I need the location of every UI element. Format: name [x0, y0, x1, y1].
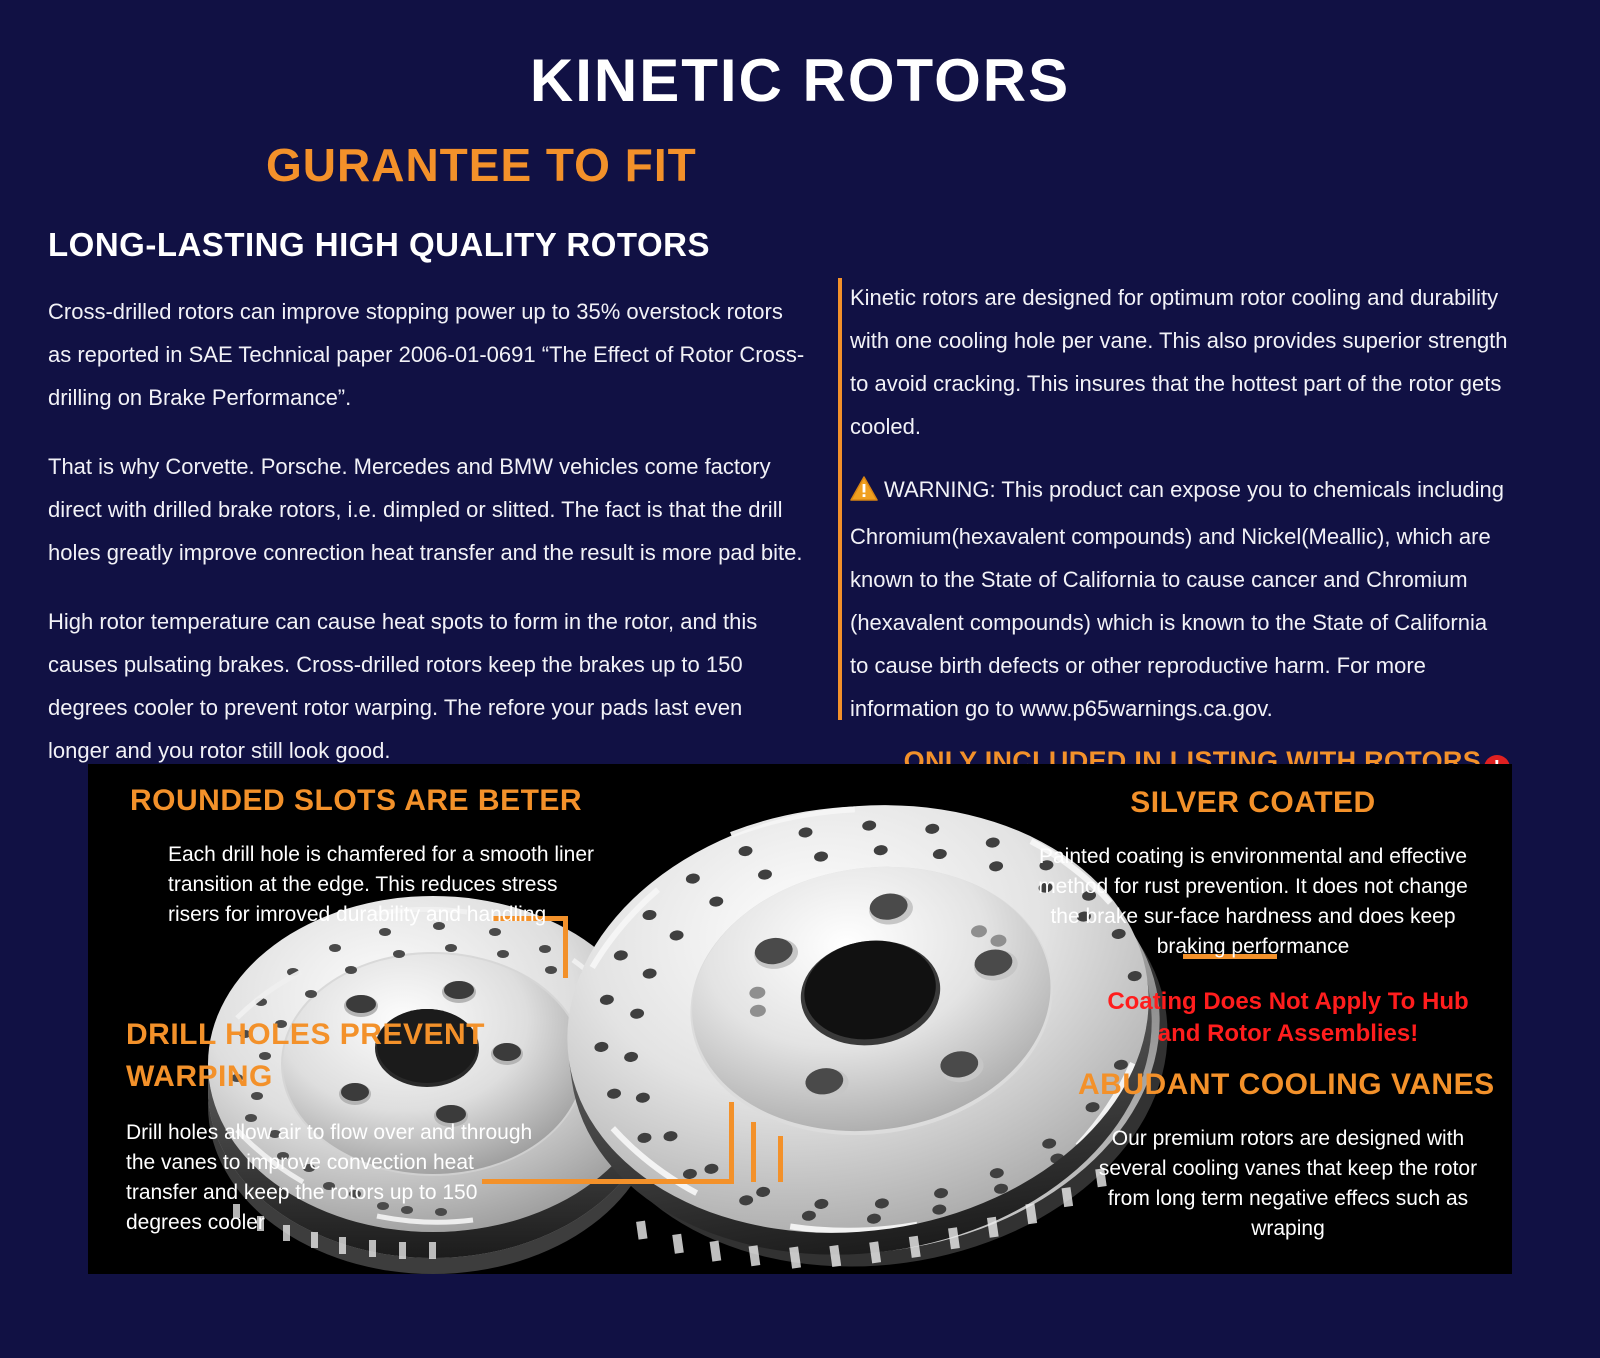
feature-rounded-slots-body: Each drill hole is chamfered for a smoot…	[168, 840, 600, 930]
prop65-warning: WARNING: This product can expose you to …	[850, 468, 1510, 730]
guarantee-headline: GURANTEE TO FIT	[266, 138, 697, 192]
left-paragraph-1: Cross-drilled rotors can improve stoppin…	[48, 290, 808, 419]
left-column-heading: LONG-LASTING HIGH QUALITY ROTORS	[48, 226, 808, 264]
leader-line-drill-stem-3	[778, 1136, 783, 1182]
prop65-warning-text: WARNING: This product can expose you to …	[850, 477, 1504, 721]
feature-drill-holes-body: Drill holes allow air to flow over and t…	[126, 1118, 546, 1238]
feature-panel: ROUNDED SLOTS ARE BETER Each drill hole …	[88, 764, 1512, 1274]
infographic-page: KINETIC ROTORS GURANTEE TO FIT LONG-LAST…	[0, 0, 1600, 1358]
feature-silver-coated: SILVER COATED Painted coating is environ…	[1033, 786, 1473, 962]
right-intro-paragraph: Kinetic rotors are designed for optimum …	[850, 276, 1510, 448]
feature-silver-coated-title: SILVER COATED	[1033, 786, 1473, 820]
feature-drill-holes-title: DRILL HOLES PREVENT WARPING	[126, 1014, 546, 1098]
feature-silver-coated-body: Painted coating is environmental and eff…	[1033, 842, 1473, 962]
column-divider	[838, 278, 842, 720]
left-paragraph-2: That is why Corvette. Porsche. Mercedes …	[48, 445, 808, 574]
feature-cooling-vanes-title: ABUDANT COOLING VANES	[1078, 1064, 1498, 1106]
right-column: Kinetic rotors are designed for optimum …	[850, 276, 1510, 781]
warning-triangle-icon	[850, 472, 878, 515]
leader-line-drill-stem-2	[751, 1122, 756, 1182]
leader-line-drill-stem-1	[729, 1102, 734, 1182]
feature-cooling-vanes: ABUDANT COOLING VANES Our premium rotors…	[1078, 1064, 1498, 1244]
left-column: LONG-LASTING HIGH QUALITY ROTORS Cross-d…	[48, 226, 808, 798]
feature-rounded-slots: ROUNDED SLOTS ARE BETER Each drill hole …	[130, 784, 600, 930]
feature-cooling-vanes-body: Our premium rotors are designed with sev…	[1078, 1124, 1498, 1244]
feature-rounded-slots-title: ROUNDED SLOTS ARE BETER	[130, 784, 600, 818]
feature-drill-holes: DRILL HOLES PREVENT WARPING Drill holes …	[126, 1014, 546, 1238]
page-title: KINETIC ROTORS	[0, 46, 1600, 115]
coating-warning-text: Coating Does Not Apply To Hub and Rotor …	[1088, 986, 1488, 1050]
left-paragraph-3: High rotor temperature can cause heat sp…	[48, 600, 808, 772]
